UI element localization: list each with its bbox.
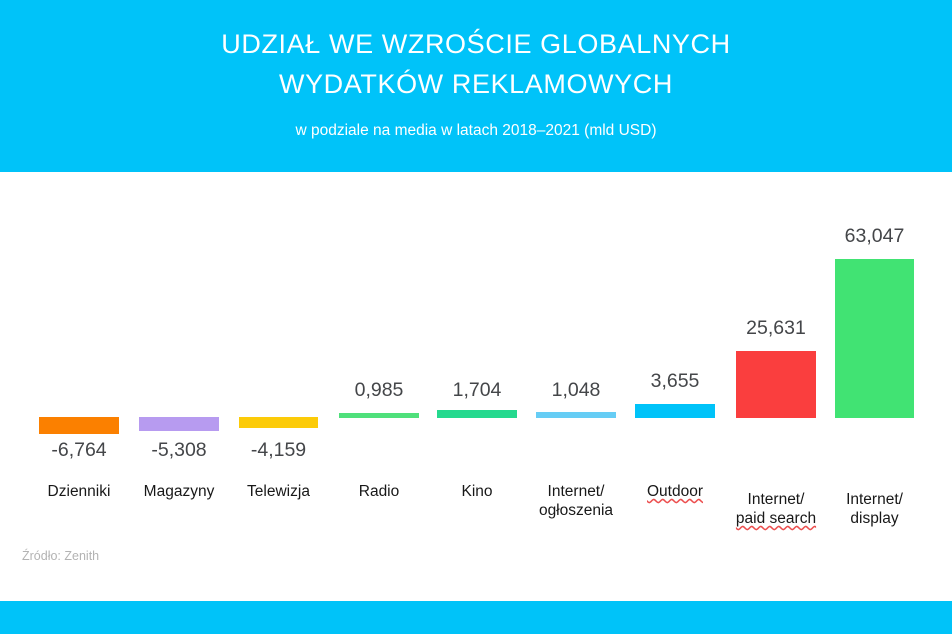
category-label-line-2: paid search: [736, 509, 816, 528]
bar: [437, 410, 517, 418]
bar-group: -6,764Dzienniki: [39, 172, 119, 601]
bar: [835, 259, 914, 418]
bar: [239, 417, 318, 428]
bar-category-label: Outdoor: [647, 482, 703, 501]
bar-value-label: -4,159: [251, 439, 306, 462]
bar-group: 1,704Kino: [437, 172, 517, 601]
category-label-line-1: Internet/: [539, 482, 613, 501]
bar-category-label: Internet/ogłoszenia: [539, 482, 613, 520]
bar: [736, 351, 816, 418]
category-label-line-1: Dzienniki: [48, 482, 111, 501]
bar-category-label: Internet/display: [846, 490, 903, 528]
bar-group: 1,048Internet/ogłoszenia: [536, 172, 616, 601]
header-band: UDZIAŁ WE WZROŚCIE GLOBALNYCH WYDATKÓW R…: [0, 0, 952, 172]
advertising-growth-chart-slide: { "header": { "title_line_1": "UDZIAŁ WE…: [0, 0, 952, 634]
page-subtitle: w podziale na media w latach 2018–2021 (…: [295, 122, 656, 140]
footer-band: [0, 601, 952, 634]
bar-group: 63,047Internet/display: [835, 172, 914, 601]
category-label-line-1: Magazyny: [144, 482, 215, 501]
bar-value-label: 1,704: [453, 379, 502, 402]
bar-category-label: Internet/paid search: [736, 490, 816, 528]
category-label-line-2: display: [846, 509, 903, 528]
category-label-line-2: ogłoszenia: [539, 501, 613, 520]
bar-value-label: -5,308: [151, 439, 206, 462]
bar-category-label: Kino: [461, 482, 492, 501]
bar-value-label: 63,047: [845, 225, 905, 248]
bar-value-label: 3,655: [651, 370, 700, 393]
page-title-line-2: WYDATKÓW REKLAMOWYCH: [279, 64, 673, 104]
source-note: Źródło: Zenith: [22, 549, 99, 563]
bar-group: -4,159Telewizja: [239, 172, 318, 601]
chart-plot-area: -6,764Dzienniki-5,308Magazyny-4,159Telew…: [0, 172, 952, 601]
category-label-line-1: Kino: [461, 482, 492, 501]
bar-value-label: 1,048: [552, 379, 601, 402]
bar-group: -5,308Magazyny: [139, 172, 219, 601]
category-label-line-1: Radio: [359, 482, 400, 501]
category-label-line-1: Internet/: [736, 490, 816, 509]
bar-category-label: Magazyny: [144, 482, 215, 501]
bar: [339, 413, 419, 418]
bar-group: 0,985Radio: [339, 172, 419, 601]
bar-value-label: -6,764: [51, 439, 106, 462]
bar-category-label: Telewizja: [247, 482, 310, 501]
bar: [139, 417, 219, 431]
category-label-line-1: Outdoor: [647, 482, 703, 501]
bar-category-label: Radio: [359, 482, 400, 501]
bar-group: 3,655Outdoor: [635, 172, 715, 601]
category-label-line-1: Telewizja: [247, 482, 310, 501]
page-title-line-1: UDZIAŁ WE WZROŚCIE GLOBALNYCH: [221, 24, 730, 64]
bar-value-label: 0,985: [355, 379, 404, 402]
bar-group: 25,631Internet/paid search: [736, 172, 816, 601]
bar-value-label: 25,631: [746, 317, 806, 340]
bar: [536, 412, 616, 418]
bar: [39, 417, 119, 434]
category-label-line-1: Internet/: [846, 490, 903, 509]
bar-category-label: Dzienniki: [48, 482, 111, 501]
bar: [635, 404, 715, 418]
